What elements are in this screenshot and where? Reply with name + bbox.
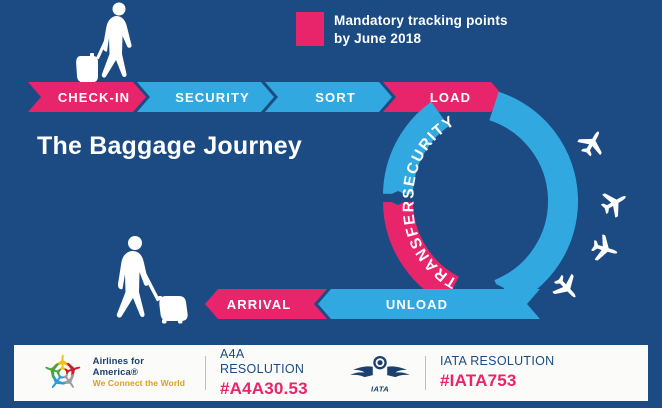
legend-line-2: by June 2018: [334, 30, 508, 48]
journey-bottom-row: ARRIVAL UNLOAD: [205, 289, 540, 319]
iata-resolution: IATA RESOLUTION #IATA753: [440, 354, 554, 391]
a4a-resolution: A4A RESOLUTION #A4A30.53: [220, 347, 331, 399]
a4a-wordmark-line-1: Airlines for America®: [93, 357, 191, 379]
footer-iata-block: IATA IATA RESOLUTION #IATA753: [331, 345, 648, 401]
airplane-icon: [548, 269, 585, 306]
a4a-wordmark: Airlines for America® We Connect the Wor…: [93, 357, 191, 389]
stage-security[interactable]: SECURITY: [137, 82, 274, 112]
legend-line-1: Mandatory tracking points: [334, 12, 508, 30]
airplane-icon: [597, 185, 632, 221]
stage-label: ARRIVAL: [227, 297, 292, 312]
iata-resolution-title: IATA RESOLUTION: [440, 354, 554, 369]
footer-divider-left: [205, 356, 206, 390]
footer-bar: Airlines for America® We Connect the Wor…: [14, 345, 648, 401]
a4a-resolution-code: #A4A30.53: [220, 379, 331, 399]
stage-sort[interactable]: SORT: [265, 82, 392, 112]
legend: Mandatory tracking points by June 2018: [296, 12, 508, 48]
stage-arrival[interactable]: ARRIVAL: [205, 289, 327, 319]
a4a-wordmark-line-2: We Connect the World: [93, 379, 191, 389]
airplane-icon: [574, 125, 610, 160]
infographic-canvas: Mandatory tracking points by June 2018 C…: [0, 0, 662, 408]
traveller-with-suitcase-bottom: [108, 234, 200, 324]
airplane-icon: [589, 233, 621, 266]
iata-resolution-code: #IATA753: [440, 371, 554, 391]
footer-a4a-block: Airlines for America® We Connect the Wor…: [14, 345, 331, 401]
footer-divider-right: [425, 356, 426, 390]
stage-check-in[interactable]: CHECK-IN: [28, 82, 146, 112]
stage-label: CHECK-IN: [58, 90, 130, 105]
stage-label: SECURITY: [175, 90, 250, 105]
legend-color-swatch: [296, 12, 324, 46]
traveller-with-suitcase-top: [72, 2, 152, 86]
stage-label: SORT: [315, 90, 356, 105]
iata-logo: IATA: [349, 351, 411, 395]
loop-arc-flight: [494, 106, 563, 294]
iata-wordmark: IATA: [371, 385, 389, 394]
stage-unload[interactable]: UNLOAD: [318, 289, 540, 319]
page-title: The Baggage Journey: [37, 132, 302, 161]
a4a-resolution-title: A4A RESOLUTION: [220, 347, 331, 377]
airlines-for-america-logo: [40, 351, 86, 395]
stage-label: UNLOAD: [386, 297, 448, 312]
legend-text: Mandatory tracking points by June 2018: [334, 12, 508, 48]
